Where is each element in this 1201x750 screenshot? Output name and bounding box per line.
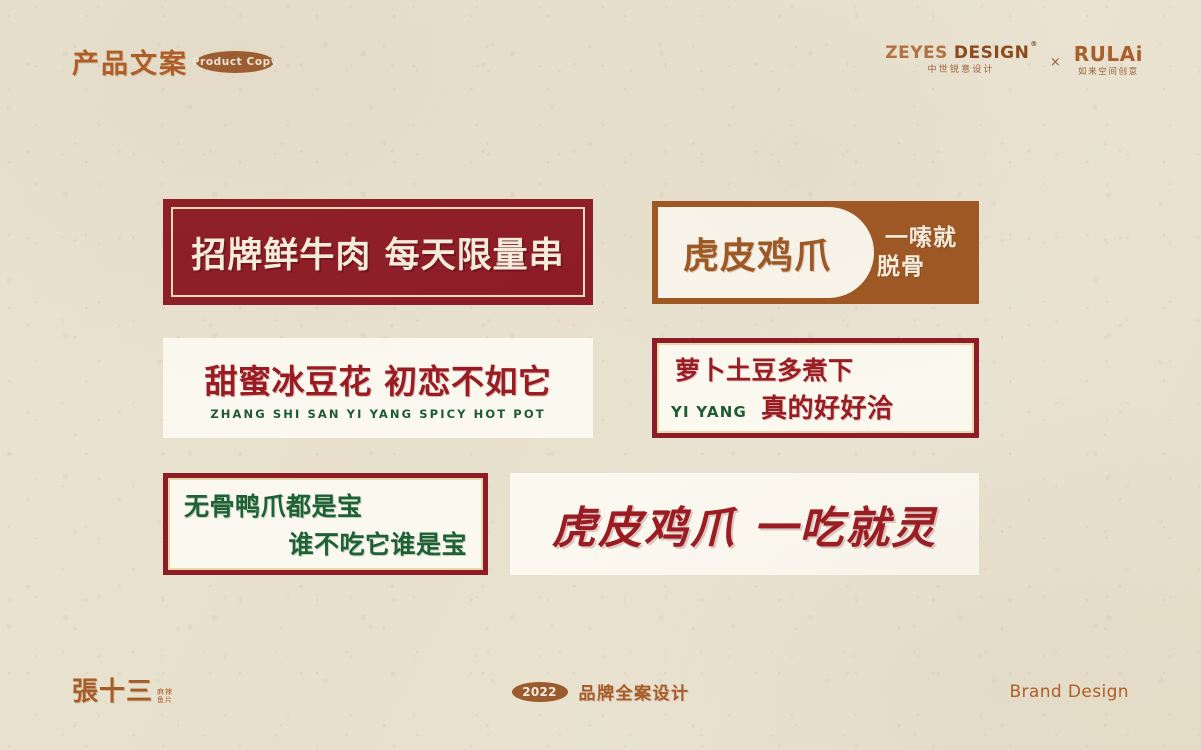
- slide-footer: 張十三 麻 辣 鱼 片 2022 品牌全案设计 Brand Design: [0, 640, 1201, 750]
- footer-center-group: 2022 品牌全案设计: [512, 679, 690, 704]
- copy-card-chicken-feet-sidetext: 一嗦就 脱骨: [873, 207, 969, 298]
- copy-card-duck-line-2: 谁不吃它谁是宝: [288, 525, 467, 561]
- copy-card-radish-line-2-group: YI YANG 真的好好洽: [671, 388, 960, 425]
- chicken-feet-side-line-2: 脱骨: [877, 254, 925, 280]
- page-title: 产品文案: [72, 42, 188, 81]
- page-title-badge: Product Copy: [196, 51, 274, 73]
- copy-card-chicken-feet: 虎皮鸡爪 一嗦就 脱骨: [652, 201, 979, 304]
- chicken-feet-side-line-1: 一嗦就: [885, 225, 957, 251]
- year-badge: 2022: [512, 682, 568, 702]
- copy-card-tiger-chicken: 虎皮鸡爪 一吃就灵: [510, 473, 979, 575]
- brand-logo: 張十三 麻 辣 鱼 片: [72, 671, 172, 708]
- copy-card-dessert-pinyin: ZHANG SHI SAN YI YANG SPICY HOT POT: [210, 407, 545, 421]
- card-inset: 萝卜土豆多煮下 YI YANG 真的好好洽: [657, 343, 974, 433]
- footer-right-label: Brand Design: [1009, 682, 1129, 702]
- brand-seal-char-3: 鱼: [157, 696, 164, 704]
- copy-card-dessert-text: 甜蜜冰豆花 初恋不如它: [205, 355, 552, 403]
- zeyes-design-logo: ZEYES DESIGN ® 中世锐意设计: [885, 45, 1037, 75]
- copy-card-beef: 招牌鲜牛肉 每天限量串: [163, 199, 593, 305]
- copy-card-radish-badge: YI YANG: [671, 403, 747, 421]
- copy-card-radish-line-2: 真的好好洽: [761, 388, 894, 425]
- copy-card-duck-line-1: 无骨鸭爪都是宝: [184, 487, 467, 523]
- copy-card-beef-text: 招牌鲜牛肉 每天限量串: [191, 227, 564, 278]
- copy-card-dessert: 甜蜜冰豆花 初恋不如它 ZHANG SHI SAN YI YANG SPICY …: [163, 338, 593, 438]
- copy-card-chicken-feet-title: 虎皮鸡爪: [683, 227, 849, 279]
- logo-group: ZEYES DESIGN ® 中世锐意设计 × RULAi 如来空间创意: [885, 44, 1143, 77]
- brand-seal-char-2: 辣: [165, 688, 172, 696]
- design-word: DESIGN: [954, 45, 1029, 62]
- slide-canvas: 产品文案 Product Copy ZEYES DESIGN ® 中世锐意设计 …: [0, 0, 1201, 750]
- rulai-logo: RULAi 如来空间创意: [1074, 44, 1143, 77]
- brand-logo-text: 張十三: [72, 671, 153, 708]
- lozenge-shape: 虎皮鸡爪: [658, 207, 874, 298]
- logo-separator-icon: ×: [1050, 55, 1061, 70]
- slide-header: 产品文案 Product Copy ZEYES DESIGN ® 中世锐意设计 …: [0, 0, 1201, 110]
- copy-card-tiger-chicken-text: 虎皮鸡爪 一吃就灵: [552, 492, 937, 556]
- rulai-wordmark: RULAi: [1074, 44, 1143, 64]
- copy-card-radish-line-1: 萝卜土豆多煮下: [675, 351, 960, 387]
- page-title-group: 产品文案 Product Copy: [72, 42, 274, 81]
- brand-seal-icon: 麻 辣 鱼 片: [157, 688, 172, 704]
- zeyes-design-wordmark: ZEYES DESIGN ®: [885, 45, 1037, 62]
- card-inset: 虎皮鸡爪 一嗦就 脱骨: [658, 207, 973, 298]
- zeyes-word: ZEYES: [885, 45, 948, 62]
- zeyes-design-subtitle: 中世锐意设计: [927, 66, 994, 75]
- registered-mark-icon: ®: [1030, 41, 1038, 48]
- brand-seal-char-4: 片: [165, 696, 172, 704]
- brand-seal-char-1: 麻: [157, 688, 164, 696]
- card-inset: 无骨鸭爪都是宝 谁不吃它谁是宝: [168, 478, 483, 570]
- footer-center-label: 品牌全案设计: [579, 679, 690, 704]
- copy-card-duck-feet: 无骨鸭爪都是宝 谁不吃它谁是宝: [163, 473, 488, 575]
- rulai-subtitle: 如来空间创意: [1078, 68, 1139, 77]
- copy-card-radish-potato: 萝卜土豆多煮下 YI YANG 真的好好洽: [652, 338, 979, 438]
